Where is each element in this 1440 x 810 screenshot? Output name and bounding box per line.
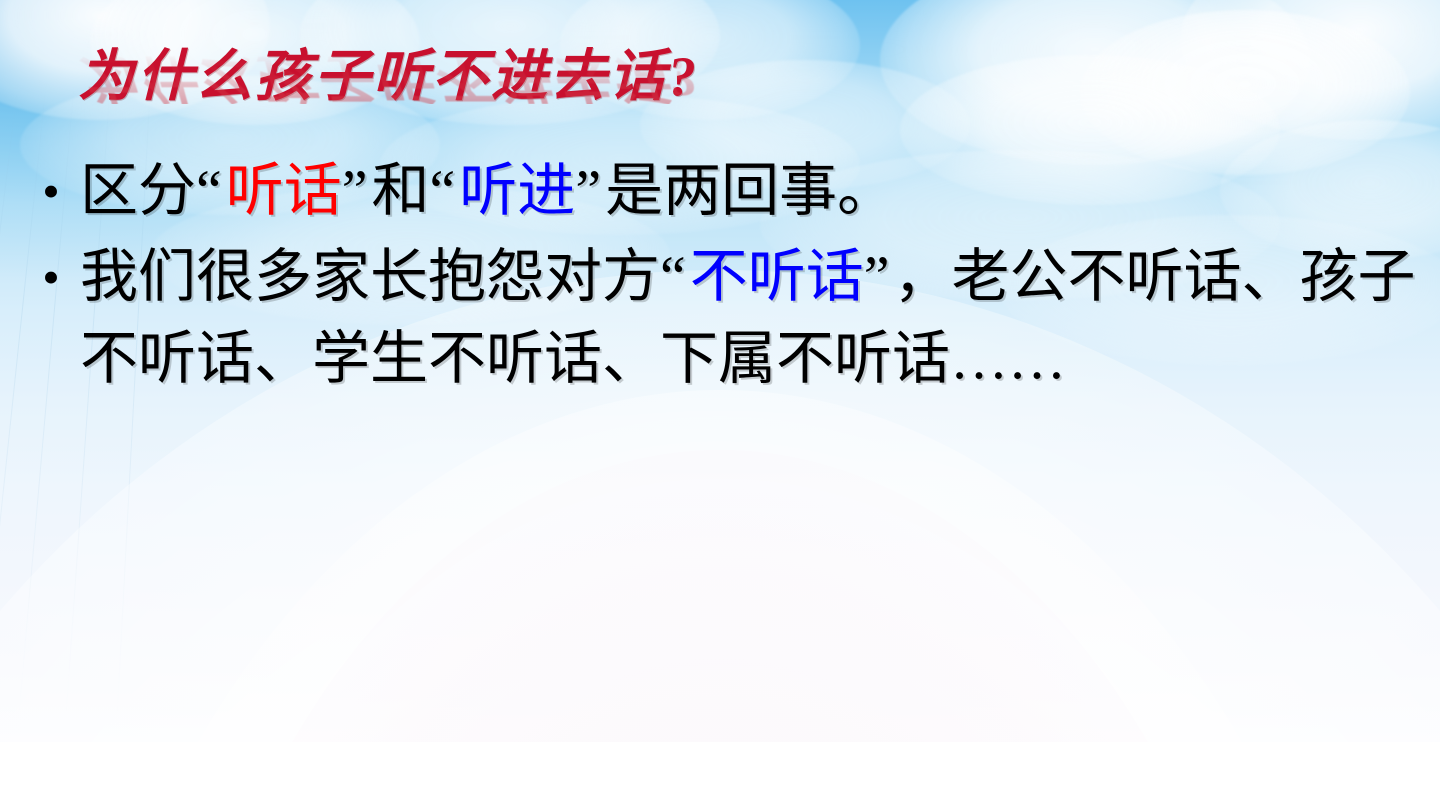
bullet-1-close-quote-1: ” bbox=[342, 158, 372, 223]
slide-title: 为什么孩子听不进去话? bbox=[78, 48, 938, 107]
bullet-marker: • bbox=[22, 150, 80, 232]
bullet-2-close-quote: ” bbox=[864, 244, 894, 309]
bullet-item-1: • 区分“听话”和“听进”是两回事。 bbox=[22, 150, 1422, 232]
bullet-1-seg-4: 和 bbox=[372, 158, 430, 223]
bullet-text-2: 我们很多家长抱怨对方“不听话”，老公不听话、孩子不听话、学生不听话、下属不听话…… bbox=[80, 236, 1422, 400]
bullet-marker: • bbox=[22, 236, 80, 318]
bullet-2-seg-0: 我们很多家长抱怨对方 bbox=[80, 244, 660, 309]
bullet-item-2: • 我们很多家长抱怨对方“不听话”，老公不听话、孩子不听话、学生不听话、下属不听… bbox=[22, 236, 1422, 400]
bullet-1-open-quote-1: “ bbox=[196, 158, 226, 223]
bottom-white-band bbox=[0, 742, 1440, 810]
bullet-2-highlight-blue: 不听话 bbox=[690, 244, 864, 309]
bullet-1-close-quote-2: ” bbox=[575, 158, 605, 223]
bullet-1-highlight-red: 听话 bbox=[226, 158, 342, 223]
slide-body: • 区分“听话”和“听进”是两回事。 • 我们很多家长抱怨对方“不听话”，老公不… bbox=[22, 150, 1422, 404]
bullet-1-highlight-blue: 听进 bbox=[459, 158, 575, 223]
bullet-2-open-quote: “ bbox=[660, 244, 690, 309]
presentation-slide: 为什么孩子听不进去话? 为什么孩子听不进去话? • 区分“听话”和“听进”是两回… bbox=[0, 0, 1440, 810]
bullet-1-open-quote-2: “ bbox=[430, 158, 460, 223]
bullet-text-1: 区分“听话”和“听进”是两回事。 bbox=[80, 150, 1422, 232]
bullet-1-seg-8: 是两回事。 bbox=[605, 158, 895, 223]
slide-title-block: 为什么孩子听不进去话? 为什么孩子听不进去话? bbox=[78, 48, 938, 158]
bullet-1-seg-0: 区分 bbox=[80, 158, 196, 223]
